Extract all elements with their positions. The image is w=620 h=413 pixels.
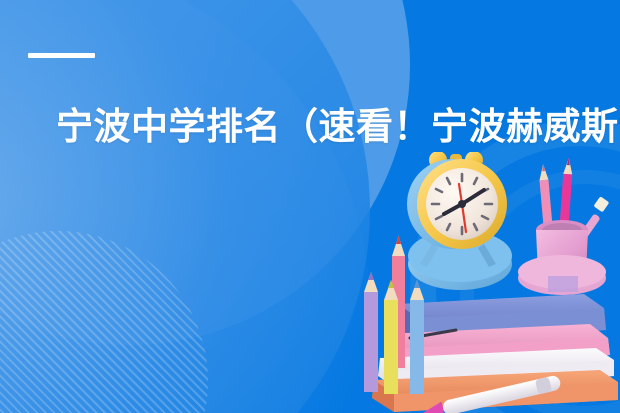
banner: 宁波中学排名（速看！宁波赫威斯肯 bbox=[0, 0, 620, 413]
colored-pencil-blue bbox=[410, 280, 424, 394]
colored-pencil-yellow bbox=[384, 280, 398, 394]
pencil-cup-group bbox=[518, 158, 609, 295]
clock-center-pin bbox=[458, 200, 466, 208]
colored-pencil-purple bbox=[364, 272, 378, 392]
accent-rule bbox=[28, 53, 95, 58]
cup-plinth-accent bbox=[548, 276, 578, 292]
alarm-clock-icon bbox=[407, 152, 512, 290]
school-supplies-illustration bbox=[352, 152, 620, 413]
page-title: 宁波中学排名（速看！宁波赫威斯肯 bbox=[56, 104, 620, 150]
